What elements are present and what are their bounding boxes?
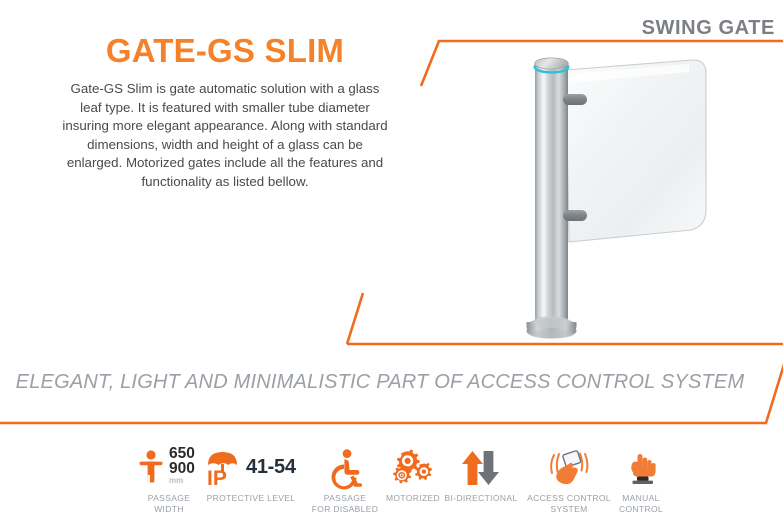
- bidirectional-arrows-icon: [458, 447, 504, 491]
- glass-bracket-upper: [563, 94, 587, 105]
- feature-motorized: MOTORIZED: [378, 447, 448, 504]
- feature-caption: ACCESS CONTROL SYSTEM: [527, 493, 611, 514]
- page-title: GATE-GS SLIM: [60, 32, 390, 70]
- glass-bracket-lower: [563, 210, 587, 221]
- swing-gate-illustration: [470, 50, 730, 345]
- feature-manual-control: MANUAL CONTROL: [605, 447, 677, 514]
- feature-passage-for-disabled: PASSAGE FOR DISABLED: [300, 447, 390, 514]
- feature-caption: BI-DIRECTIONAL: [445, 493, 518, 504]
- feature-access-control-system: ACCESS CONTROL SYSTEM: [521, 447, 617, 514]
- post-cap: [535, 58, 569, 69]
- feature-caption: PASSAGE FOR DISABLED: [312, 493, 379, 514]
- feature-caption: MANUAL CONTROL: [619, 493, 663, 514]
- feature-bi-directional: BI-DIRECTIONAL: [441, 447, 521, 504]
- passage-width-unit: mm: [169, 476, 195, 485]
- tagline: ELEGANT, LIGHT AND MINIMALISTIC PART OF …: [0, 371, 760, 394]
- passage-width-secondary: 900: [169, 461, 195, 476]
- feature-caption: MOTORIZED: [386, 493, 440, 504]
- product-description: Gate-GS Slim is gate automatic solution …: [62, 80, 388, 192]
- ip-rating-value: 41-54: [246, 456, 296, 479]
- feature-passage-width: 650 900 mm PASSAGE WIDTH: [123, 447, 215, 514]
- hand-press-button-icon: [620, 447, 662, 491]
- glass-leaf: [566, 60, 706, 242]
- feature-strip: 650 900 mm PASSAGE WIDTH IP 41-54 PROTEC…: [0, 447, 783, 521]
- steel-post: [535, 66, 568, 332]
- slide-canvas: SWING GATE GATE-GS SLIM Gate-GS Slim is …: [0, 0, 783, 521]
- feature-caption: PROTECTIVE LEVEL: [207, 493, 296, 504]
- feature-caption: PASSAGE WIDTH: [148, 493, 190, 514]
- passage-width-primary: 650: [169, 446, 195, 461]
- feature-protective-level: IP 41-54 PROTECTIVE LEVEL: [204, 447, 298, 504]
- category-label: SWING GATE: [560, 17, 775, 40]
- hand-rfid-card-icon: [540, 447, 598, 491]
- gears-motorized-icon: [389, 447, 437, 491]
- svg-text:IP: IP: [207, 467, 227, 490]
- wheelchair-accessible-icon: [326, 447, 364, 491]
